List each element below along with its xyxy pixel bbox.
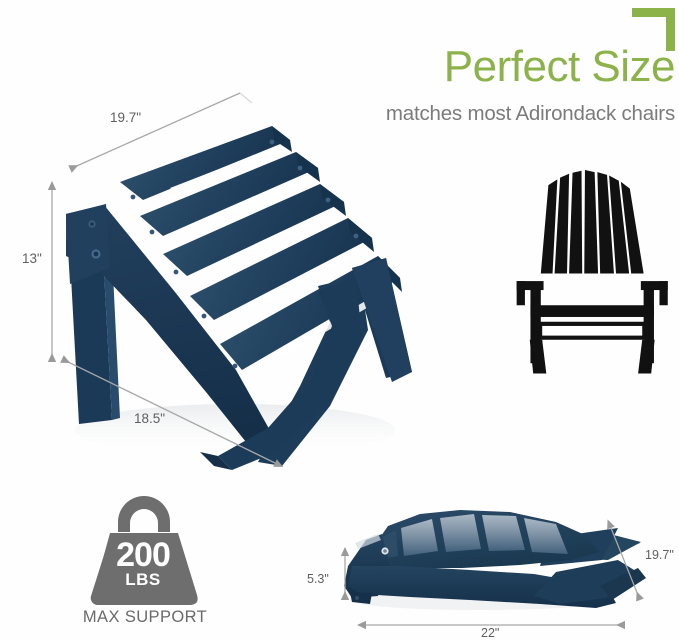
dimension-line-width-open bbox=[70, 93, 240, 169]
weight-unit: LBS bbox=[88, 571, 198, 588]
weight-badge: 200 LBS bbox=[88, 518, 198, 598]
dimension-label-thickness-folded: 5.3" bbox=[307, 572, 329, 586]
infographic-canvas: Perfect Size matches most Adirondack cha… bbox=[0, 0, 679, 641]
dimension-line-width-folded bbox=[611, 528, 640, 600]
page-subtitle: matches most Adirondack chairs bbox=[300, 101, 675, 127]
dimension-label-length-folded: 22" bbox=[481, 626, 499, 640]
page-title: Perfect Size bbox=[390, 42, 675, 92]
dimension-label-width-open: 19.7" bbox=[110, 110, 141, 125]
dimension-line-depth-open bbox=[62, 359, 275, 463]
dimension-label-height-open: 13" bbox=[22, 251, 42, 266]
max-support-caption: MAX SUPPORT bbox=[50, 608, 240, 627]
weight-value: 200 bbox=[88, 538, 198, 572]
dimension-label-depth-open: 18.5" bbox=[134, 411, 165, 426]
dimension-label-width-folded: 19.7" bbox=[645, 548, 674, 562]
